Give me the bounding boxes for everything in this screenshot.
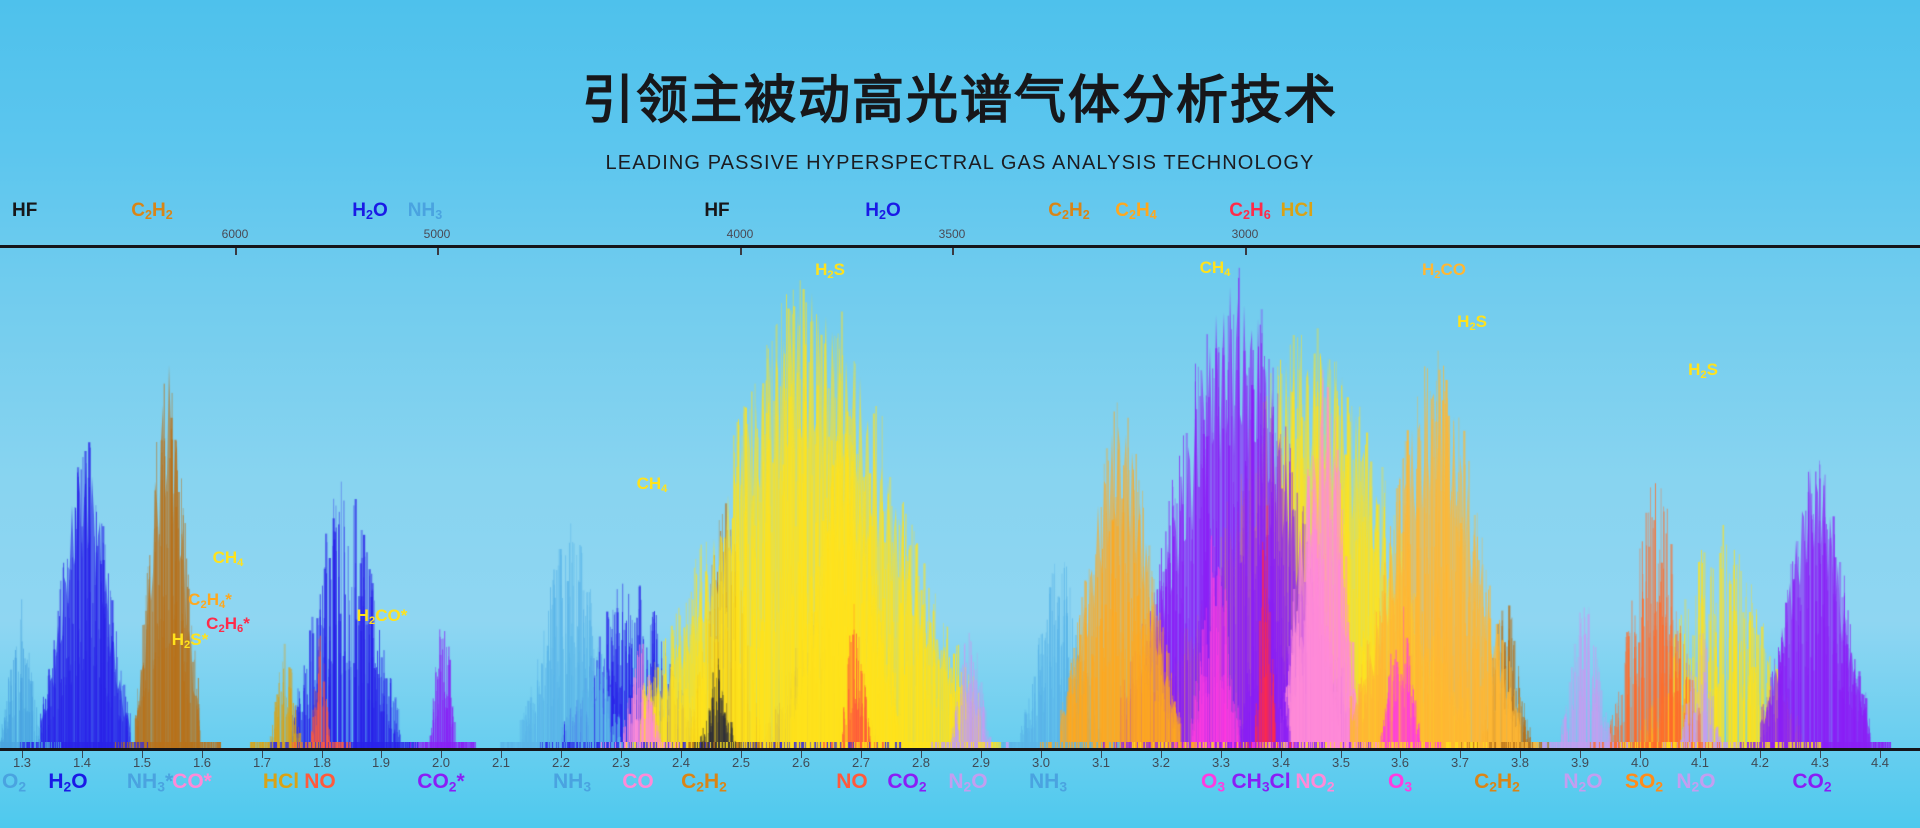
tick-label: 1.3 — [13, 755, 31, 770]
gas-label-o3: O3 — [1388, 770, 1412, 794]
gas-label-no2: NO2 — [1295, 770, 1334, 794]
gas-label-c2h4: C2H4* — [188, 590, 232, 611]
tick-label: 3.6 — [1391, 755, 1409, 770]
gas-label-ch4: CH4 — [1200, 258, 1231, 279]
bottom-axis-line — [0, 748, 1920, 751]
gas-label-h2o: H2O — [352, 200, 388, 222]
page-title: 引领主被动高光谱气体分析技术 — [0, 58, 1920, 133]
tick-label: 3.4 — [1272, 755, 1290, 770]
gas-label-c2h4: C2H4 — [1115, 200, 1156, 222]
gas-label-hf: HF — [12, 200, 37, 222]
tick-label: 1.6 — [193, 755, 211, 770]
tick-label: 1.5 — [133, 755, 151, 770]
tick-label: 2.4 — [672, 755, 690, 770]
tick-label: 2.0 — [432, 755, 450, 770]
gas-label-hcl: HCl — [1281, 200, 1314, 222]
gas-label-h2s: H2S* — [172, 630, 209, 651]
gas-label-h2s: H2S — [1688, 360, 1718, 381]
tick-label: 4.1 — [1691, 755, 1709, 770]
tick-label: 4.3 — [1811, 755, 1829, 770]
tick-mark — [1245, 248, 1247, 255]
tick-mark — [952, 248, 954, 255]
gas-label-n2o: N2O — [948, 770, 987, 794]
tick-label: 1.8 — [313, 755, 331, 770]
gas-label-co2: CO2 — [1792, 770, 1831, 794]
tick-label: 3.5 — [1332, 755, 1350, 770]
gas-label-c2h2: C2H2 — [1048, 200, 1089, 222]
tick-label: 4000 — [727, 227, 754, 241]
spectra-canvas — [0, 248, 1920, 748]
tick-label: 3.9 — [1571, 755, 1589, 770]
gas-label-ch3cl: CH3Cl — [1231, 770, 1290, 794]
tick-label: 2.9 — [972, 755, 990, 770]
tick-label: 3.7 — [1451, 755, 1469, 770]
gas-label-h2s: H2S — [815, 260, 845, 281]
gas-label-c2h2: C2H2 — [131, 200, 172, 222]
tick-label: 3.2 — [1152, 755, 1170, 770]
gas-label-c2h6: C2H6* — [206, 614, 250, 635]
gas-label-c2h2: C2H2 — [681, 770, 727, 794]
gas-label-o2: O2 — [2, 770, 26, 794]
gas-label-h2s: H2S — [1457, 312, 1487, 333]
tick-label: 2.8 — [912, 755, 930, 770]
tick-label: 3.8 — [1511, 755, 1529, 770]
tick-label: 3000 — [1232, 227, 1259, 241]
tick-label: 4.4 — [1871, 755, 1889, 770]
gas-label-n2o: N2O — [1563, 770, 1602, 794]
tick-label: 2.6 — [792, 755, 810, 770]
gas-label-h2o: H2O — [48, 770, 87, 794]
page-subtitle: LEADING PASSIVE HYPERSPECTRAL GAS ANALYS… — [0, 152, 1920, 175]
tick-label: 2.2 — [552, 755, 570, 770]
gas-label-c2h2: C2H2 — [1474, 770, 1520, 794]
tick-label: 5000 — [424, 227, 451, 241]
tick-label: 3500 — [939, 227, 966, 241]
spectra-plot — [0, 248, 1920, 748]
gas-label-h2co: H2CO* — [357, 606, 408, 627]
tick-mark — [235, 248, 237, 255]
tick-label: 4.0 — [1631, 755, 1649, 770]
gas-label-nh3: NH3 — [553, 770, 591, 794]
tick-label: 3.0 — [1032, 755, 1050, 770]
tick-label: 4.2 — [1751, 755, 1769, 770]
gas-label-n2o: N2O — [1676, 770, 1715, 794]
tick-label: 2.7 — [852, 755, 870, 770]
gas-label-co2: CO2 — [887, 770, 926, 794]
gas-label-o3: O3 — [1201, 770, 1225, 794]
gas-label-hf: HF — [704, 200, 729, 222]
tick-label: 1.4 — [73, 755, 91, 770]
tick-label: 6000 — [222, 227, 249, 241]
gas-label-ch4: CH4 — [213, 548, 244, 569]
page-header: 引领主被动高光谱气体分析技术 LEADING PASSIVE HYPERSPEC… — [0, 0, 1920, 200]
gas-label-h2co: H2CO — [1422, 260, 1466, 281]
tick-label: 1.9 — [372, 755, 390, 770]
tick-mark — [740, 248, 742, 255]
gas-label-ch4: CH4 — [637, 474, 668, 495]
gas-label-no: NO — [304, 770, 336, 794]
tick-mark — [437, 248, 439, 255]
tick-label: 2.3 — [612, 755, 630, 770]
tick-label: 2.1 — [492, 755, 510, 770]
tick-label: 1.7 — [253, 755, 271, 770]
gas-label-nh3: NH3* — [127, 770, 173, 794]
gas-label-hcl: HCl — [263, 770, 299, 794]
gas-label-no: NO — [836, 770, 868, 794]
tick-label: 3.1 — [1092, 755, 1110, 770]
gas-label-h2o: H2O — [865, 200, 901, 222]
tick-label: 3.3 — [1212, 755, 1230, 770]
gas-label-nh3: NH3 — [408, 200, 442, 222]
gas-label-so2: SO2 — [1625, 770, 1663, 794]
gas-label-co2: CO2* — [417, 770, 464, 794]
tick-label: 2.5 — [732, 755, 750, 770]
gas-label-co: CO* — [172, 770, 212, 794]
gas-label-co: CO — [622, 770, 654, 794]
gas-label-c2h6: C2H6 — [1229, 200, 1270, 222]
gas-label-nh3: NH3 — [1029, 770, 1067, 794]
